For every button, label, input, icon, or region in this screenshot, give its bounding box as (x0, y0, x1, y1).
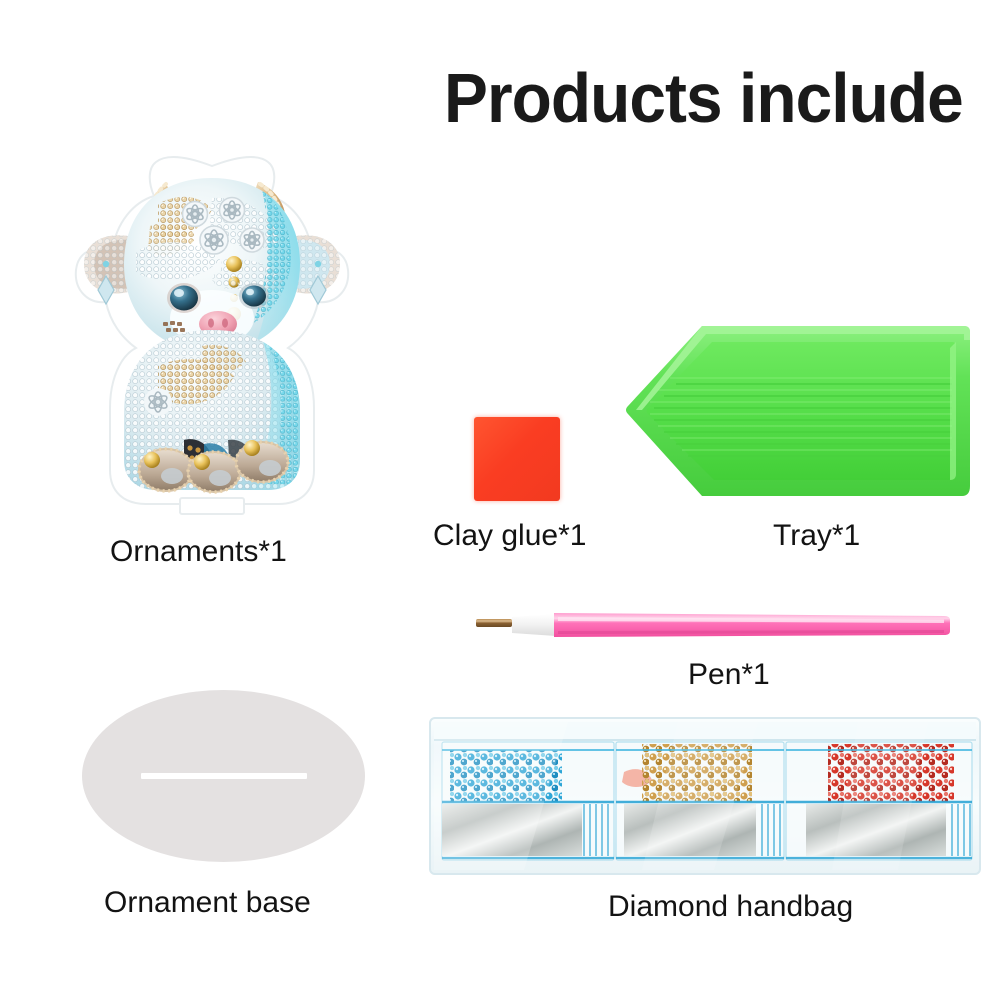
clay-glue-square (474, 417, 560, 501)
tray-label: Tray*1 (773, 519, 860, 553)
product-contents-infographic: Products include (0, 0, 1001, 1001)
diamond-handbag-icon (428, 714, 982, 878)
ornaments-label: Ornaments*1 (110, 535, 287, 569)
ornament-base-icon (82, 690, 365, 862)
diamond-handbag-label: Diamond handbag (608, 890, 853, 924)
pen-icon (470, 606, 956, 644)
ornament-base-label: Ornament base (104, 886, 311, 920)
page-title: Products include (444, 58, 963, 138)
pen-label: Pen*1 (688, 658, 770, 692)
ornament-base-slot (141, 773, 307, 779)
ornament-cow-figure (62, 140, 362, 515)
tray-icon (618, 318, 974, 504)
clay-glue-label: Clay glue*1 (433, 519, 586, 553)
